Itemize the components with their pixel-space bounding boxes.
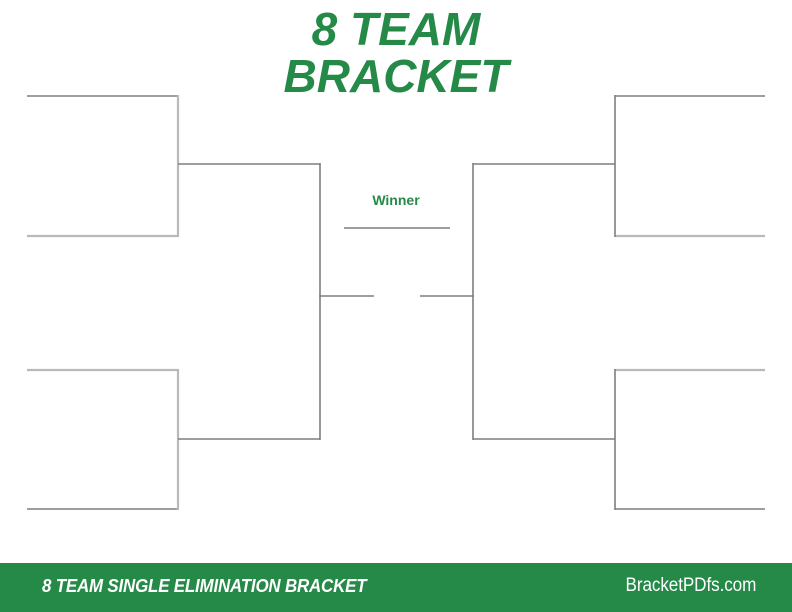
right-bottom-round2-group xyxy=(473,295,615,440)
footer-title: 8 TEAM SINGLE ELIMINATION BRACKET xyxy=(42,576,366,597)
right-top-round1-group xyxy=(615,95,765,237)
left-bottom-round1-group xyxy=(27,369,178,510)
right-bottom-round1-group xyxy=(615,369,765,510)
bracket-diagram xyxy=(0,0,792,612)
footer-website-link[interactable]: BracketPDfs.com xyxy=(625,575,756,597)
left-top-round1-group xyxy=(27,95,178,237)
footer-bar: 8 TEAM SINGLE ELIMINATION BRACKET Bracke… xyxy=(0,563,792,612)
left-bottom-round2-group xyxy=(178,295,320,440)
winner-label: Winner xyxy=(330,192,462,208)
right-top-round2-group xyxy=(473,163,615,297)
bracket-page: 8 TEAM BRACKET xyxy=(0,0,792,612)
left-top-round2-group xyxy=(178,163,320,297)
